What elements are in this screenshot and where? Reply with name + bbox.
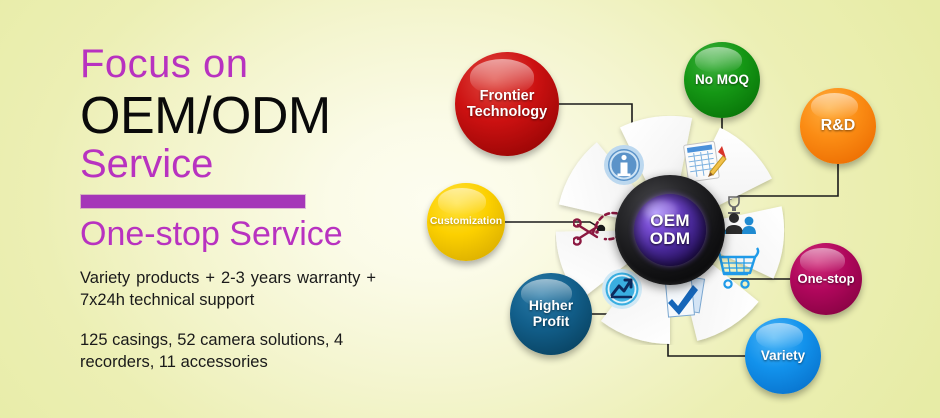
center-label-line2: ODM [650, 230, 691, 248]
info-icon [602, 143, 646, 187]
bubble-rd[interactable]: R&D [800, 88, 876, 164]
radial-diagram: OEM ODM Frontier Technology No MOQ R&D O… [400, 0, 940, 418]
page-title: OEM/ODM [80, 88, 410, 144]
promotional-banner: Focus on OEM/ODM Service One-stop Servic… [0, 0, 940, 418]
bubble-higher-profit[interactable]: Higher Profit [510, 273, 592, 355]
center-label-line1: OEM [650, 212, 690, 230]
bubble-no-moq[interactable]: No MOQ [684, 42, 760, 118]
eyebrow-text: Focus on [80, 44, 410, 84]
description-paragraph-2: 125 casings, 52 camera solutions, 4 reco… [80, 329, 376, 373]
tagline: One-stop Service [80, 217, 410, 251]
lens-center: OEM ODM [634, 194, 706, 266]
bubble-variety[interactable]: Variety [745, 318, 821, 394]
bubble-frontier-technology[interactable]: Frontier Technology [455, 52, 559, 156]
bubble-customization[interactable]: Customization [427, 183, 505, 261]
left-text-panel: Focus on OEM/ODM Service One-stop Servic… [80, 44, 410, 374]
camera-lens-icon: OEM ODM [615, 175, 725, 285]
description-paragraph-1: Variety products + 2-3 years warranty + … [80, 267, 376, 311]
subtitle: Service [80, 144, 410, 184]
divider-bar [81, 195, 305, 208]
bubble-one-stop[interactable]: One-stop [790, 243, 862, 315]
